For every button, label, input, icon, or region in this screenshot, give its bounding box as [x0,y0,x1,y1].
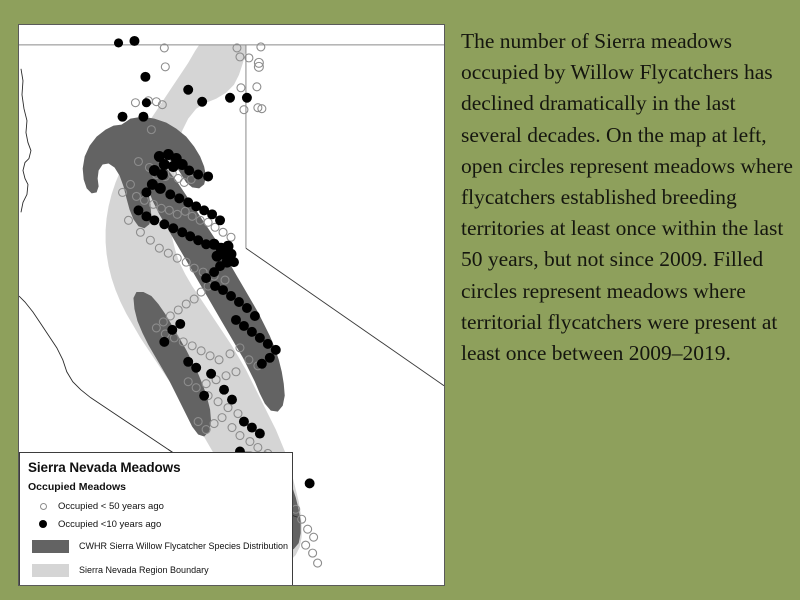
open-meadow-marker [245,356,253,364]
open-meadow-marker [164,249,172,257]
open-meadow-marker [254,62,263,71]
california-coastline [21,69,31,212]
open-meadow-marker [314,559,322,567]
filled-meadow-marker [149,215,159,225]
legend-title: Sierra Nevada Meadows [28,460,284,475]
open-meadow-marker [160,44,168,52]
open-meadow-marker [146,236,154,244]
open-meadow-marker [254,444,262,452]
filled-meadow-marker [168,223,178,233]
open-meadow-marker [119,188,127,196]
open-meadow-marker [190,264,198,272]
open-meadow-marker [174,306,182,314]
open-meadow-marker [202,426,210,434]
open-meadow-marker [134,158,142,166]
filled-meadow-marker [257,359,267,369]
filled-meadow-marker [155,183,166,194]
open-meadow-marker [236,432,244,440]
filled-meadow-marker [215,215,225,225]
filled-meadow-marker [212,251,223,262]
open-meadow-marker [147,126,155,134]
open-meadow-marker [232,368,240,376]
open-meadow-marker [140,196,148,204]
filled-meadow-marker [219,385,229,395]
filled-meadow-marker [201,273,211,283]
filled-meadow-marker [174,193,184,203]
filled-meadow-marker [225,93,235,103]
slide-root: Sierra Nevada Meadows Occupied Meadows O… [0,0,800,600]
open-meadow-marker [233,44,241,52]
filled-meadow-marker [165,189,175,199]
open-meadow-marker [159,318,167,326]
open-meadow-marker [155,244,163,252]
filled-meadow-marker [229,257,239,267]
open-meadow-marker [204,218,212,226]
filled-meadow-marker [183,357,193,367]
open-meadow-marker [190,295,198,303]
open-meadow-marker [181,207,189,215]
open-meadow-marker [170,334,178,342]
open-meadow-marker [310,533,318,541]
filled-meadow-marker [265,353,275,363]
open-meadow-marker [221,276,229,284]
open-meadow-marker [236,53,244,61]
open-meadow-marker [188,212,196,220]
filled-meadow-marker [193,169,203,179]
open-circle-icon [28,503,58,510]
filled-meadow-marker [157,169,168,180]
filled-meadow-marker [231,315,241,325]
open-meadow-marker [304,525,312,533]
filled-meadow-marker [242,303,252,313]
open-meadow-marker [125,216,133,224]
open-meadow-marker [246,438,254,446]
filled-meadow-marker [247,327,257,337]
filled-meadow-marker [133,205,143,215]
filled-meadow-marker [226,291,236,301]
open-meadow-marker [152,324,160,332]
filled-meadow-marker [234,297,244,307]
open-meadow-marker [234,410,242,418]
open-meadow-marker [309,549,317,557]
open-meadow-marker [132,192,140,200]
open-meadow-marker [228,424,236,432]
open-meadow-marker [219,228,227,236]
open-meadow-marker [184,378,192,386]
open-meadow-marker [194,418,202,426]
open-meadow-marker [202,380,210,388]
open-meadow-marker [126,180,134,188]
open-meadow-marker [136,228,144,236]
open-meadow-marker [166,312,174,320]
open-meadow-marker [215,356,223,364]
open-meadow-marker [197,288,205,296]
open-meadow-marker [161,63,169,71]
open-meadow-marker [240,106,248,114]
open-meadow-marker [222,372,230,380]
open-meadow-marker [298,515,306,523]
legend-item-region-boundary: Sierra Nevada Region Boundary [28,560,284,580]
filled-meadow-marker [159,337,169,347]
filled-meadow-marker [184,165,194,175]
open-meadow-marker [192,384,200,392]
filled-meadow-marker [250,311,260,321]
filled-meadow-marker [239,321,249,331]
open-meadow-marker [149,200,157,208]
filled-meadow-marker [114,38,123,47]
filled-meadow-marker [263,339,273,349]
open-meadow-marker [257,43,265,51]
open-meadow-marker [258,105,266,113]
legend-item-occupied-50-years: Occupied < 50 years ago [28,498,284,514]
filled-meadow-marker [227,395,237,405]
filled-meadow-marker [199,391,209,401]
legend-swatch-label: Sierra Nevada Region Boundary [79,565,209,575]
open-meadow-marker [237,84,245,92]
open-meadow-marker [224,404,232,412]
open-meadow-marker [173,210,181,218]
filled-meadow-marker [159,219,169,229]
open-meadow-marker [197,347,205,355]
filled-meadow-marker [207,209,217,219]
open-meadow-marker [131,99,139,107]
filled-meadow-marker [129,36,139,46]
filled-meadow-marker [218,285,228,295]
open-meadow-marker [158,101,166,109]
open-meadow-marker [157,204,165,212]
open-meadow-marker [188,342,196,350]
filled-meadow-marker [167,325,177,335]
filled-circle-icon [28,520,58,528]
filled-meadow-marker [255,429,265,439]
legend-subtitle: Occupied Meadows [28,481,284,493]
open-meadow-marker [227,233,235,241]
legend-item-label: Occupied < 50 years ago [58,501,164,512]
legend-item-species-distribution: CWHR Sierra Willow Flycatcher Species Di… [28,536,284,556]
legend-swatch-label: CWHR Sierra Willow Flycatcher Species Di… [79,541,288,551]
open-meadow-marker [206,352,214,360]
region-boundary-swatch-icon [32,564,69,577]
open-meadow-marker [165,206,173,214]
filled-meadow-marker [191,363,201,373]
open-meadow-marker [214,398,222,406]
filled-meadow-marker [255,333,265,343]
open-meadow-marker [226,350,234,358]
open-meadow-marker [236,344,244,352]
filled-meadow-marker [206,369,216,379]
filled-meadow-marker [140,72,150,82]
legend-item-label: Occupied <10 years ago [58,519,161,530]
map-panel: Sierra Nevada Meadows Occupied Meadows O… [18,24,445,586]
open-meadow-marker [245,54,253,62]
filled-meadow-marker [138,112,148,122]
open-meadow-marker [302,541,310,549]
open-meadow-marker [253,83,261,91]
filled-meadow-marker [118,112,128,122]
open-meadow-marker [218,414,226,422]
filled-meadow-marker [209,267,219,277]
filled-meadow-marker [141,187,151,197]
filled-meadow-marker [239,417,249,427]
caption-text: The number of Sierra meadows occupied by… [461,26,793,369]
open-meadow-marker [182,258,190,266]
legend-item-occupied-10-years: Occupied <10 years ago [28,516,284,532]
filled-meadow-marker [142,98,151,107]
open-meadow-marker [173,254,181,262]
filled-meadow-marker [175,319,185,329]
filled-meadow-marker [197,97,207,107]
filled-meadow-marker [305,478,315,488]
filled-meadow-marker [183,85,193,95]
open-meadow-marker [210,420,218,428]
open-meadow-marker [182,300,190,308]
open-meadow-marker [179,338,187,346]
filled-meadow-marker [271,345,281,355]
filled-meadow-marker [247,423,257,433]
filled-meadow-marker [203,171,213,181]
open-meadow-marker [196,216,204,224]
species-distribution-swatch-icon [32,540,69,553]
map-legend: Sierra Nevada Meadows Occupied Meadows O… [19,452,293,586]
filled-meadow-marker [242,93,252,103]
